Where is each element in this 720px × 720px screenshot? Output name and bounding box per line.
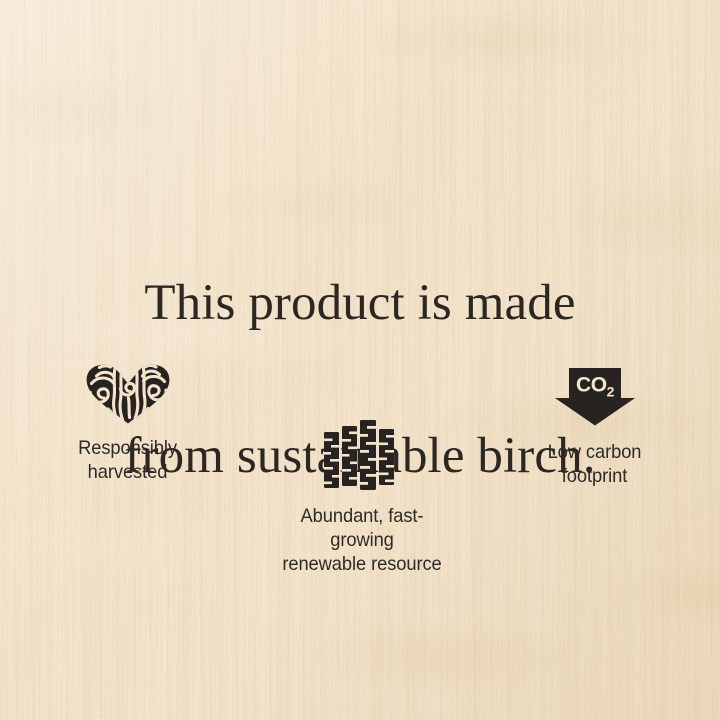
feature-caption: Responsibly harvested: [41, 436, 215, 484]
feature-renewable-resource: Abundant, fast-growing renewable resourc…: [272, 418, 452, 576]
feature-icon-slot: [272, 418, 452, 490]
feature-icon-slot: [35, 362, 220, 424]
co2-down-arrow-icon: CO2: [553, 368, 637, 426]
poster-canvas: This product is made from sustainable bi…: [0, 0, 720, 720]
co2-label-subscript: 2: [606, 384, 614, 400]
feature-caption: Low carbon footprint: [508, 440, 682, 488]
feature-responsibly-harvested: Responsibly harvested: [35, 362, 220, 484]
co2-label-main: CO: [575, 374, 606, 397]
wood-grain-heart-icon: [84, 364, 172, 424]
feature-icon-slot: CO2: [502, 366, 687, 426]
headline-line-1: This product is made: [0, 278, 720, 329]
poster-content: This product is made from sustainable bi…: [0, 0, 720, 720]
feature-low-carbon-footprint: CO2 Low carbon footprint: [502, 366, 687, 488]
stacked-timber-bars-icon: [320, 418, 404, 490]
feature-caption: Abundant, fast-growing renewable resourc…: [277, 504, 446, 576]
